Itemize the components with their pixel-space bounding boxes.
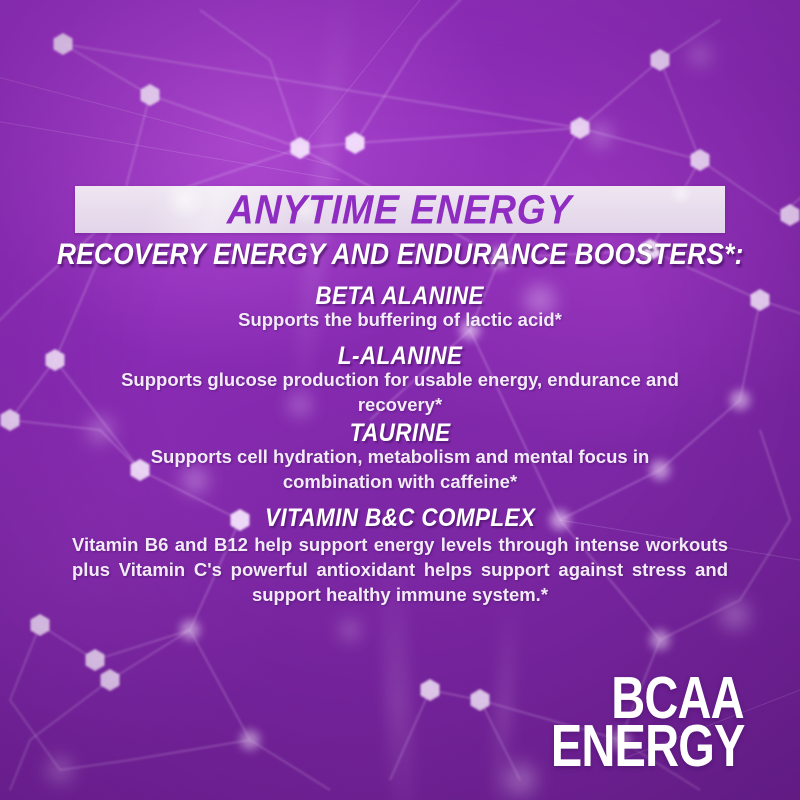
page-title: ANYTIME ENERGY [75,189,725,230]
bcaa-energy-logo: BCAA ENERGY [514,676,745,770]
subtitle-text: RECOVERY ENERGY AND ENDURANCE BOOSTERS*: [57,239,744,271]
logo-line-energy: ENERGY [514,724,745,770]
ingredient-description-l-alanine: Supports glucose production for usable e… [110,367,690,417]
subtitle: RECOVERY ENERGY AND ENDURANCE BOOSTERS*: [0,239,800,271]
ingredient-description-taurine: Supports cell hydration, metabolism and … [130,444,670,494]
ingredient-name: TAURINE [350,420,451,447]
page-title-text: ANYTIME ENERGY [227,189,573,230]
ingredient-description-beta-alanine: Supports the buffering of lactic acid* [130,307,670,332]
ingredient-name: VITAMIN B&C COMPLEX [265,505,535,532]
ingredient-heading-vitamin-bc-complex: VITAMIN B&C COMPLEX [0,505,800,532]
ingredient-name: L-ALANINE [338,343,462,370]
ingredient-heading-taurine: TAURINE [0,420,800,447]
product-info-poster: ANYTIME ENERGY RECOVERY ENERGY AND ENDUR… [0,0,800,800]
ingredient-name: BETA ALANINE [316,283,484,310]
title-banner: ANYTIME ENERGY [75,186,725,233]
ingredient-description-vitamin-bc-complex: Vitamin B6 and B12 help support energy l… [72,532,728,607]
poster-content: ANYTIME ENERGY RECOVERY ENERGY AND ENDUR… [0,0,800,800]
ingredient-heading-beta-alanine: BETA ALANINE [0,283,800,310]
ingredient-heading-l-alanine: L-ALANINE [0,343,800,370]
